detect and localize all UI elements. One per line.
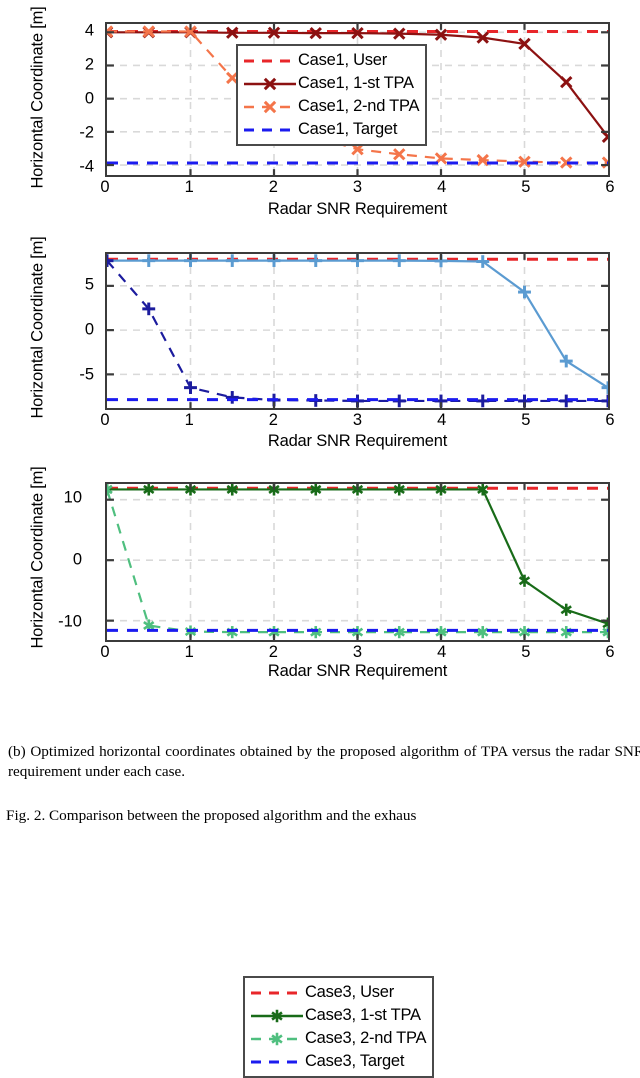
legend-line-sample (249, 1029, 305, 1049)
subplot-case3: Horizontal Coordinate [m] -10010 0123456… (0, 460, 640, 690)
y-tick-labels-1: -4-2024 (52, 22, 98, 177)
y-tick-label: 10 (64, 489, 82, 508)
legend-item: Case1, 2-nd TPA (242, 95, 419, 118)
legend-item: Case3, User (249, 981, 426, 1004)
y-tick-label: 0 (73, 551, 82, 570)
x-tick-label: 6 (605, 643, 614, 662)
plot-canvas-3 (107, 484, 608, 640)
x-tick-label: 2 (269, 643, 278, 662)
legend-item: Case3, 1-st TPA (249, 1004, 426, 1027)
x-tick-label: 0 (100, 411, 109, 430)
y-tick-label: 5 (85, 275, 94, 294)
y-axis-label-2: Horizontal Coordinate [m] (29, 228, 48, 428)
y-tick-label: 4 (85, 21, 94, 40)
legend-line-sample (242, 120, 298, 140)
legend-label: Case3, 1-st TPA (305, 1006, 421, 1025)
legend-line-sample (242, 74, 298, 94)
y-tick-label: 0 (85, 321, 94, 340)
x-tick-labels-2: 0123456 (105, 411, 610, 433)
legend-3: Case3, UserCase3, 1-st TPACase3, 2-nd TP… (243, 976, 434, 1078)
legend-item: Case1, Target (242, 118, 419, 141)
legend-label: Case1, 1-st TPA (298, 74, 414, 93)
y-tick-label: -10 (58, 613, 82, 632)
x-tick-label: 5 (521, 643, 530, 662)
x-tick-label: 3 (353, 411, 362, 430)
x-tick-label: 6 (605, 178, 614, 197)
y-tick-labels-2: -505 (52, 252, 98, 410)
y-tick-label: -5 (79, 366, 94, 385)
x-tick-label: 6 (605, 411, 614, 430)
x-tick-label: 2 (269, 411, 278, 430)
figure-caption: Fig. 2. Comparison between the proposed … (6, 806, 640, 826)
plot-canvas-2 (107, 254, 608, 408)
y-tick-label: 0 (85, 89, 94, 108)
y-tick-label: 2 (85, 55, 94, 74)
x-tick-label: 4 (437, 411, 446, 430)
y-tick-label: -4 (79, 157, 94, 176)
x-axis-label-1: Radar SNR Requirement (105, 200, 610, 219)
x-tick-label: 5 (521, 411, 530, 430)
legend-label: Case1, 2-nd TPA (298, 97, 419, 116)
x-tick-label: 1 (185, 178, 194, 197)
legend-line-sample (249, 983, 305, 1003)
figure-2b: Horizontal Coordinate [m] -4-2024 012345… (0, 0, 640, 710)
subfigure-caption: (b) Optimized horizontal coordinates obt… (8, 742, 640, 781)
legend-line-sample (242, 97, 298, 117)
legend-item: Case3, Target (249, 1050, 426, 1073)
x-tick-label: 4 (437, 178, 446, 197)
x-axis-label-2: Radar SNR Requirement (105, 432, 610, 451)
x-tick-label: 1 (185, 411, 194, 430)
x-axis-label-3: Radar SNR Requirement (105, 662, 610, 681)
legend-label: Case1, Target (298, 120, 397, 139)
legend-line-sample (249, 1006, 305, 1026)
y-tick-labels-3: -10010 (40, 482, 86, 642)
x-tick-label: 1 (185, 643, 194, 662)
legend-label: Case3, 2-nd TPA (305, 1029, 426, 1048)
plot-area-3 (105, 482, 610, 642)
legend-line-sample (242, 51, 298, 71)
legend-label: Case1, User (298, 51, 387, 70)
legend-item: Case1, 1-st TPA (242, 72, 419, 95)
legend-line-sample (249, 1052, 305, 1072)
legend-item: Case1, User (242, 49, 419, 72)
x-tick-labels-1: 0123456 (105, 178, 610, 200)
x-tick-label: 2 (269, 178, 278, 197)
legend-label: Case3, User (305, 983, 394, 1002)
plot-area-2 (105, 252, 610, 410)
legend-label: Case3, Target (305, 1052, 404, 1071)
subplot-case1: Horizontal Coordinate [m] -4-2024 012345… (0, 0, 640, 230)
x-tick-label: 5 (521, 178, 530, 197)
legend-item: Case3, 2-nd TPA (249, 1027, 426, 1050)
x-tick-label: 3 (353, 178, 362, 197)
x-tick-label: 0 (100, 643, 109, 662)
x-tick-label: 0 (100, 178, 109, 197)
y-axis-label-1: Horizontal Coordinate [m] (29, 0, 48, 198)
y-tick-label: -2 (79, 123, 94, 142)
x-tick-label: 3 (353, 643, 362, 662)
subplot-case2: Horizontal Coordinate [m] -505 0123456 R… (0, 230, 640, 460)
x-tick-label: 4 (437, 643, 446, 662)
legend-1: Case1, UserCase1, 1-st TPACase1, 2-nd TP… (236, 44, 427, 146)
